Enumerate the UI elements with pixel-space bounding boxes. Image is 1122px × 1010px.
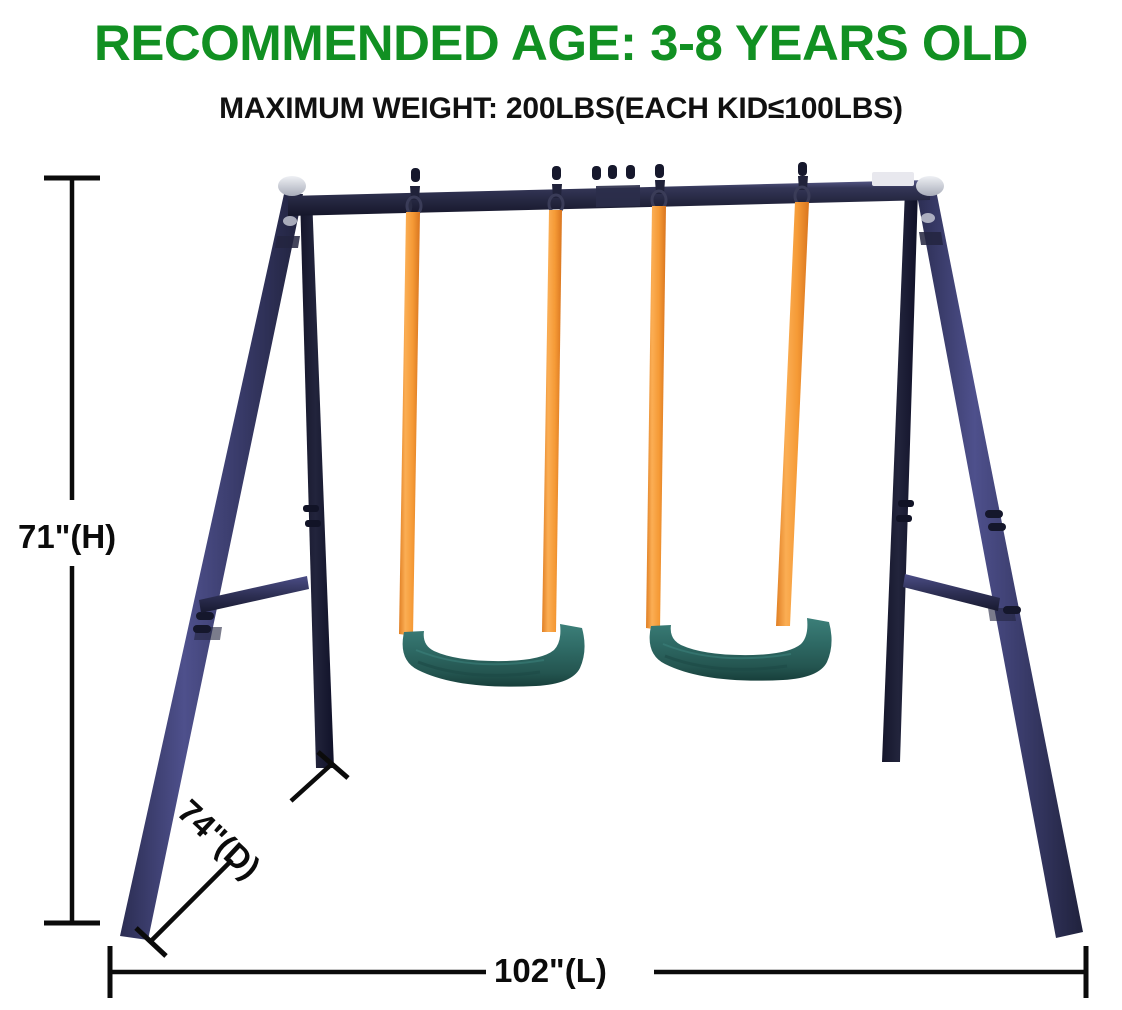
beam-label-sticker <box>872 172 914 186</box>
beam-right-end-cap <box>916 176 944 196</box>
strap-1-right <box>542 210 562 632</box>
right-front-leg <box>916 190 1083 938</box>
length-dimension-label: 102"(L) <box>494 952 607 990</box>
strap-1-left <box>399 212 420 636</box>
right-cross-brace <box>903 574 1000 611</box>
height-dimension-label: 71"(H) <box>18 518 116 556</box>
swing-seat-1 <box>399 184 585 687</box>
strap-2-left <box>646 206 666 630</box>
top-beam <box>278 162 944 216</box>
beam-left-end-cap <box>278 176 306 196</box>
right-rear-leg <box>882 190 918 762</box>
swing-seat-2 <box>646 176 832 681</box>
left-rear-leg <box>300 196 334 768</box>
product-illustration <box>0 0 1122 1010</box>
strap-2-right <box>776 202 809 626</box>
